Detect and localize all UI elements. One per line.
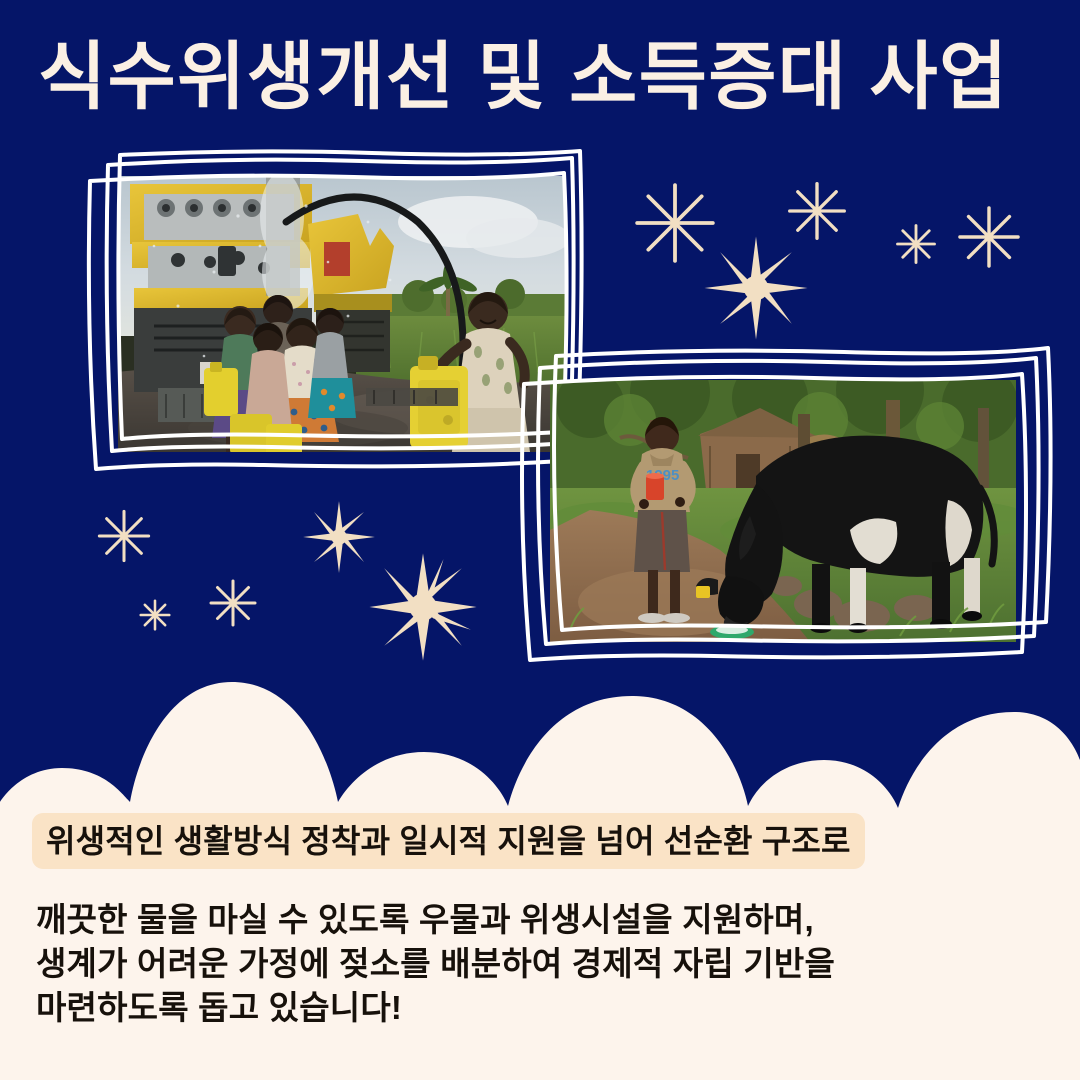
subtitle-text: 위생적인 생활방식 정착과 일시적 지원을 넘어 선순환 구조로 [46, 825, 851, 857]
sparkle-icon [956, 204, 1022, 270]
sparkle-icon [894, 222, 938, 266]
sparkle-icon [786, 180, 848, 242]
photo-dairy-cow-image: 1995 [550, 380, 1016, 642]
page-title: 식수위생개선 및 소득증대 사업 [38, 31, 1048, 123]
sparkle-burst-icon [700, 232, 812, 344]
navy-background-section: 식수위생개선 및 소득증대 사업 [0, 0, 1080, 740]
photo-dairy-cow: 1995 [508, 340, 1056, 675]
sparkle-icon [632, 180, 718, 266]
sparkle-burst-icon [366, 550, 480, 664]
sparkle-icon [208, 578, 258, 628]
body-line-2: 생계가 어려운 가정에 젖소를 배분하여 경제적 자립 기반을 [36, 942, 1016, 986]
body-line-1: 깨끗한 물을 마실 수 있도록 우물과 위생시설을 지원하며, [36, 898, 1016, 942]
sparkle-anchor [962, 215, 963, 216]
sparkle-burst-icon [300, 498, 378, 576]
subtitle-highlight-bar: 위생적인 생활방식 정착과 일시적 지원을 넘어 선순환 구조로 [32, 813, 865, 869]
sparkle-icon [96, 508, 152, 564]
photo-water-well-image [118, 176, 566, 452]
poster-canvas: 식수위생개선 및 소득증대 사업 [0, 0, 1080, 1080]
body-copy: 깨끗한 물을 마실 수 있도록 우물과 위생시설을 지원하며, 생계가 어려운 … [36, 898, 1016, 1030]
sparkle-icon [138, 598, 172, 632]
body-line-3: 마련하도록 돕고 있습니다! [36, 986, 1016, 1030]
